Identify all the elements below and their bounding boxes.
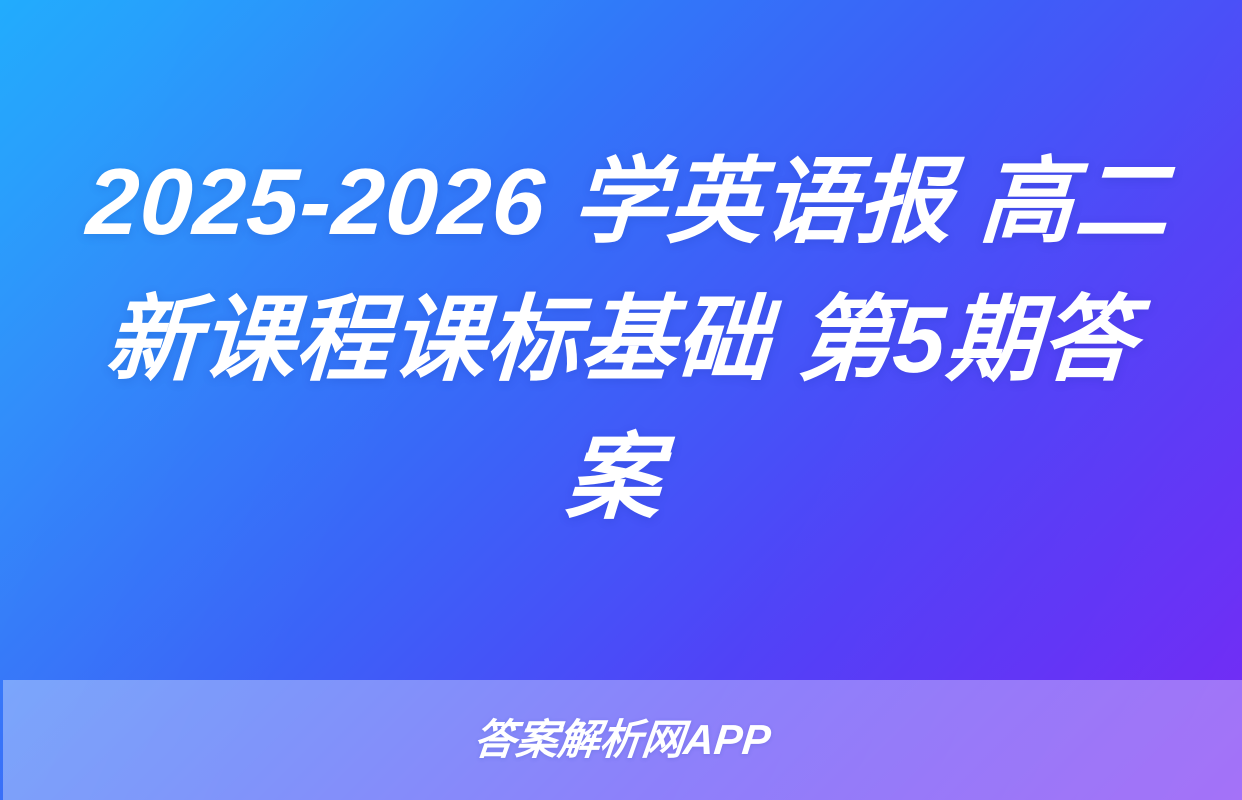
page-title: 2025-2026 学英语报 高二 新课程课标基础 第5期答案 [55, 133, 1187, 547]
poster-title-container: 2025-2026 学英语报 高二 新课程课标基础 第5期答案 [0, 0, 1242, 680]
footer-brand-band: 答案解析网APP [3, 680, 1242, 800]
app-brand-watermark: 答案解析网APP [472, 719, 773, 761]
poster-canvas: 2025-2026 学英语报 高二 新课程课标基础 第5期答案 答案解析网APP [0, 0, 1242, 800]
